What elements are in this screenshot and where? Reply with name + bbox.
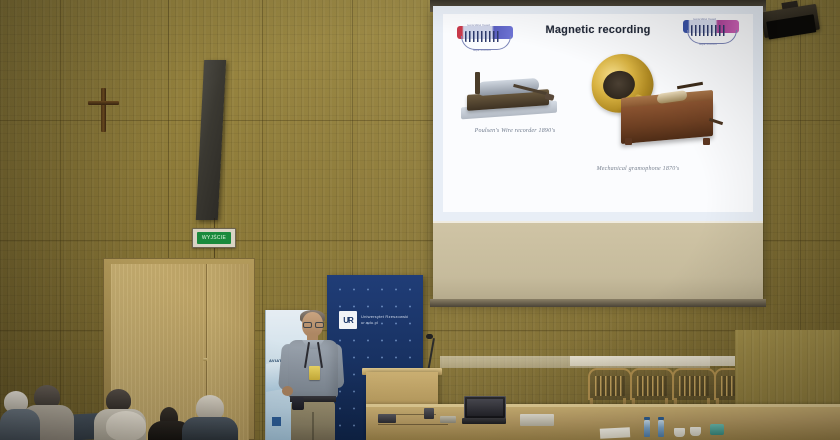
screen-unlit-area [433,221,763,300]
projection-screen: Magnetic recording recording head tape m… [433,6,763,300]
chair-back [630,368,674,400]
audience [0,385,300,440]
bottle-cap [658,417,664,420]
caption-gramophone: Mechanical gramophone 1870's [563,166,713,172]
exit-sign-label: WYJŚCIE [202,235,226,241]
desk-device [378,414,396,423]
water-bottle[interactable] [644,420,650,437]
audience-body [182,417,238,440]
gramophone-case [621,100,713,144]
university-name-block: Uniwersytet Rzeszowski ur.edu.pl [361,314,419,326]
wall-white-band [570,356,740,366]
logo-caption-bottom: tape motion [473,48,491,52]
audience-body [0,409,40,440]
magnetic-tape-head-logo-left: recording head tape motion [457,22,519,52]
gramophone-foot [625,138,632,145]
cable [378,424,448,425]
presentation-slide: Magnetic recording recording head tape m… [443,14,753,212]
desk-device [424,408,434,419]
green-object[interactable] [710,424,724,435]
cup[interactable] [674,428,685,437]
desk-device [520,414,554,426]
magnetic-tape-head-logo-right: recording head tape motion [683,16,745,46]
glasses-icon [303,322,322,326]
conference-badge [309,366,320,380]
desk-edge [366,404,840,407]
audience-head [106,411,146,440]
laptop-screen [467,399,503,416]
gramophone-tonearm [677,82,703,89]
projected-area: Magnetic recording recording head tape m… [433,6,763,221]
conference-hall-photo: WYJŚCIE Magnetic recording recording hea… [0,0,840,440]
cup[interactable] [690,427,701,436]
desk-device [440,416,456,423]
trouser-seam [312,412,314,440]
exit-sign-face: WYJŚCIE [197,232,231,244]
university-url: ur.edu.pl [361,320,419,326]
recorder-post [475,72,480,94]
papers [600,427,630,439]
chair-back [672,368,716,400]
gramophone-foot [703,138,710,145]
crucifix-icon [86,88,120,132]
screen-bottom-bar [430,299,766,307]
wire-recorder-illustration [461,66,561,124]
wall-seam [262,0,263,440]
chair-back [588,368,632,400]
logo-caption-bottom: tape motion [699,42,717,46]
gramophone-illustration [581,54,721,164]
bottle-cap [644,417,650,420]
water-bottle[interactable] [658,420,664,437]
laptop-keyboard[interactable] [462,418,506,424]
exit-sign: WYJŚCIE [192,228,236,248]
caption-wire-recorder: Poulsen's Wire recorder 1890's [455,128,575,134]
wall-seam [60,0,61,440]
